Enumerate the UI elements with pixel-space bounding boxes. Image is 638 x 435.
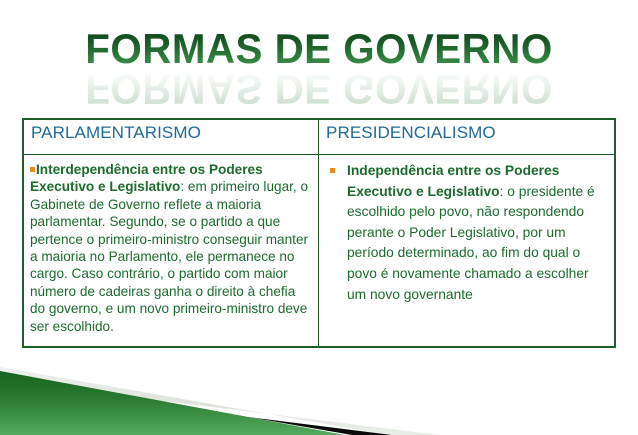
column-header-parlamentarismo: PARLAMENTARISMO	[24, 120, 319, 155]
comparison-table: PARLAMENTARISMO PRESIDENCIALISMO Interde…	[22, 118, 616, 348]
decor-band-dark	[0, 374, 392, 435]
decor-band-green	[0, 371, 345, 435]
paragraph-body-text: : o presidente é escolhido pelo povo, nã…	[347, 184, 595, 302]
column-header-label: PARLAMENTARISMO	[31, 123, 201, 142]
table-header-row: PARLAMENTARISMO PRESIDENCIALISMO	[24, 120, 615, 155]
square-bullet-icon	[330, 168, 335, 173]
bullet-gutter	[325, 161, 347, 186]
column-header-presidencialismo: PRESIDENCIALISMO	[319, 120, 615, 155]
decor-band-light	[0, 367, 440, 435]
slide-title-block: FORMAS DE GOVERNO FORMAS DE GOVERNO	[0, 26, 638, 106]
paragraph-body-text: : em primeiro lugar, o Gabinete de Gover…	[30, 179, 308, 333]
page-title-reflection: FORMAS DE GOVERNO	[13, 66, 625, 112]
cell-parlamentarismo-description: Interdependência entre os Poderes Execut…	[24, 155, 319, 347]
column-header-label: PRESIDENCIALISMO	[326, 123, 496, 142]
slide-canvas: FORMAS DE GOVERNO FORMAS DE GOVERNO PARL…	[0, 0, 638, 435]
diagonal-corner-banner	[0, 357, 440, 435]
table-row: Interdependência entre os Poderes Execut…	[24, 155, 615, 347]
paragraph-presidencialismo: Independência entre os Poderes Executivo…	[347, 161, 606, 305]
cell-presidencialismo-description: Independência entre os Poderes Executivo…	[319, 155, 615, 347]
square-bullet-icon	[30, 167, 35, 172]
page-title: FORMAS DE GOVERNO	[13, 26, 625, 72]
paragraph-parlamentarismo: Interdependência entre os Poderes Execut…	[30, 161, 310, 335]
